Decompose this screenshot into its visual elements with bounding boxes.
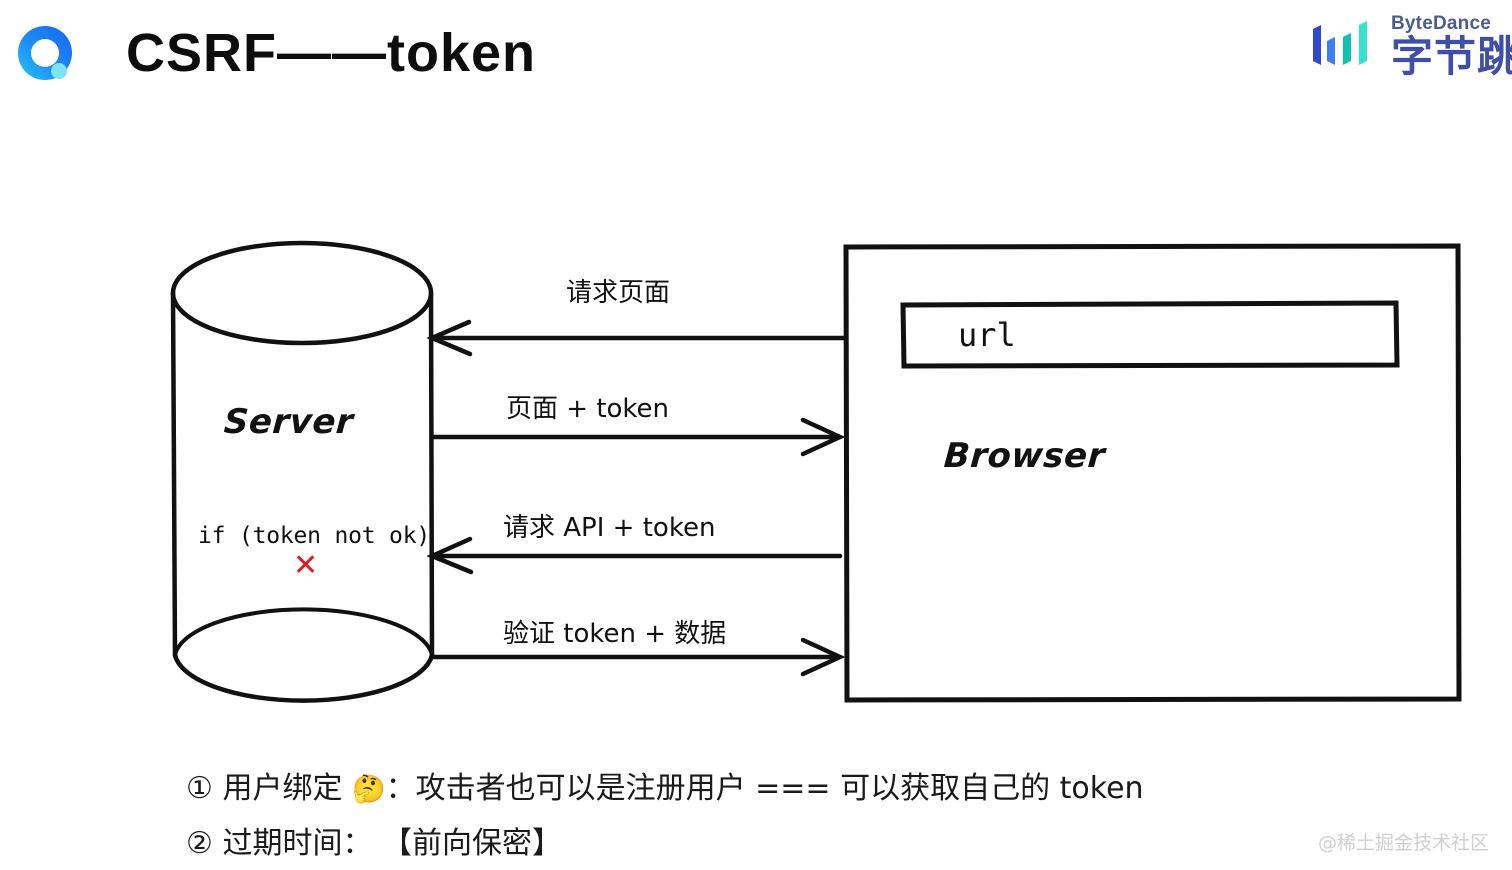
server-label: Server (223, 402, 355, 442)
server-condition-text: if (token not ok) (198, 523, 430, 549)
slide-canvas: CSRF——token ByteDance 字节跳 (0, 0, 1512, 870)
flow-label-1: 请求页面 (566, 272, 670, 309)
brand-cjk-name: 字节跳 (1391, 36, 1512, 78)
flow-label-2: 页面 + token (506, 388, 669, 425)
flow-arrow-2 (434, 420, 840, 454)
browser-box-shape (846, 246, 1459, 700)
note-1-text-before: 用户绑定 (222, 771, 352, 806)
flow-label-4: 验证 token + 数据 (503, 613, 726, 650)
note-item-1: ① 用户绑定 🤔：攻击者也可以是注册用户 === 可以获取自己的 token (186, 763, 1144, 807)
app-ring-logo-icon (14, 22, 76, 86)
thinking-face-icon: 🤔 (352, 774, 386, 805)
note-1-text-after: ：攻击者也可以是注册用户 === 可以获取自己的 token (386, 771, 1144, 806)
note-2-text: 过期时间： 【前向保密】 (222, 826, 562, 861)
page-title: CSRF——token (126, 22, 536, 84)
brand-latin-name: ByteDance (1391, 14, 1512, 33)
flow-arrow-1 (432, 322, 846, 354)
bytedance-bars-icon (1309, 19, 1377, 73)
url-field-value[interactable]: url (958, 316, 1016, 354)
watermark: @稀土掘金技术社区 (1318, 828, 1489, 855)
brand-wordmark: ByteDance 字节跳 (1391, 14, 1512, 78)
server-cylinder-shape (173, 243, 432, 701)
brand-logo: ByteDance 字节跳 (1309, 14, 1512, 78)
browser-label: Browser (943, 436, 1107, 476)
note-1-marker: ① (186, 771, 213, 806)
note-2-marker: ② (186, 826, 213, 861)
flow-label-3: 请求 API + token (503, 507, 715, 544)
note-item-2: ② 过期时间： 【前向保密】 (186, 818, 562, 862)
invalid-token-cross-icon: ✕ (293, 548, 318, 583)
